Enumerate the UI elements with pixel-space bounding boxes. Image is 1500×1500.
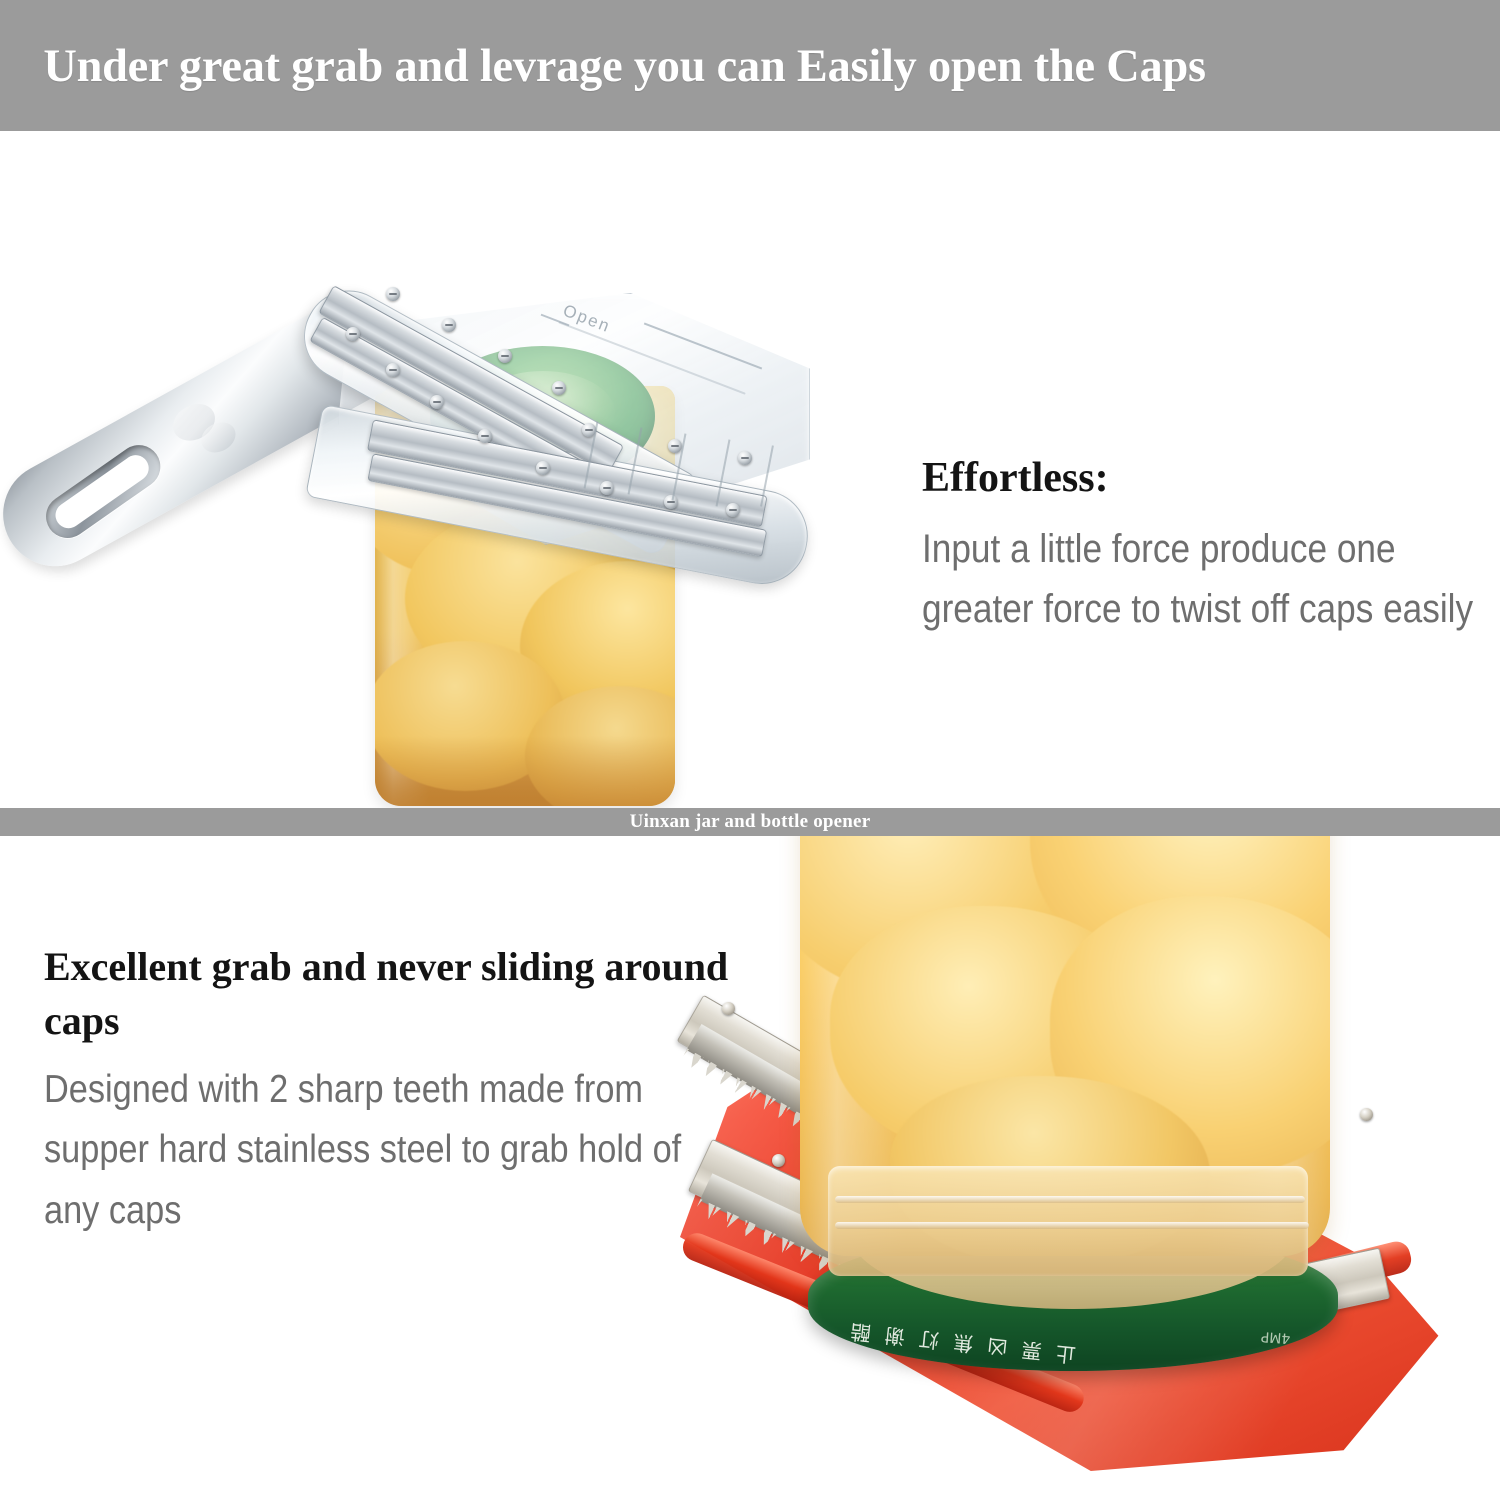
rivet — [386, 287, 400, 301]
brand-banner-text: Uinxan jar and bottle opener — [630, 811, 871, 833]
top-headline-banner: Under great grab and levrage you can Eas… — [0, 0, 1500, 131]
jar-neck-glass — [828, 1166, 1308, 1276]
rivet — [536, 461, 550, 475]
rivet — [442, 318, 456, 332]
screw — [1360, 1108, 1373, 1121]
rivet — [726, 503, 740, 517]
effortless-feature-block: Effortless: Input a little force produce… — [922, 456, 1482, 640]
effortless-body: Input a little force produce one greater… — [922, 519, 1485, 641]
rivet — [552, 381, 566, 395]
jar-thread — [835, 1222, 1309, 1229]
product-infographic: Under great grab and levrage you can Eas… — [0, 0, 1500, 1500]
bottom-panel: Excellent grab and never sliding around … — [0, 836, 1500, 1500]
rivet — [386, 363, 400, 377]
jar-thread — [835, 1196, 1305, 1203]
top-product-photo: Open — [0, 131, 860, 808]
opener-v-head-clear: Open — [290, 271, 820, 571]
grab-feature-block: Excellent grab and never sliding around … — [44, 940, 744, 1241]
screw — [722, 1002, 735, 1015]
rivet — [478, 429, 492, 443]
top-panel: Open — [0, 131, 1500, 808]
bottom-product-photo: 止 票 凶 焦 灯 谢 酷 4MP — [660, 836, 1500, 1500]
grab-body: Designed with 2 sharp teeth made from su… — [44, 1060, 739, 1241]
grab-heading: Excellent grab and never sliding around … — [44, 940, 744, 1048]
lid-code-text: 4MP — [1260, 1328, 1290, 1346]
rivet — [498, 349, 512, 363]
rivet — [738, 451, 752, 465]
handle-hang-hole — [38, 437, 169, 547]
rivet — [430, 395, 444, 409]
screw — [772, 1154, 785, 1167]
rivet — [600, 481, 614, 495]
rivet — [668, 439, 682, 453]
effortless-heading: Effortless: — [922, 456, 1482, 501]
brand-banner: Uinxan jar and bottle opener — [0, 808, 1500, 836]
top-headline-text: Under great grab and levrage you can Eas… — [0, 39, 1206, 93]
lid-chinese-text: 止 票 凶 焦 灯 谢 酷 — [845, 1318, 1077, 1371]
peach-slice — [375, 641, 565, 791]
rivet — [346, 327, 360, 341]
